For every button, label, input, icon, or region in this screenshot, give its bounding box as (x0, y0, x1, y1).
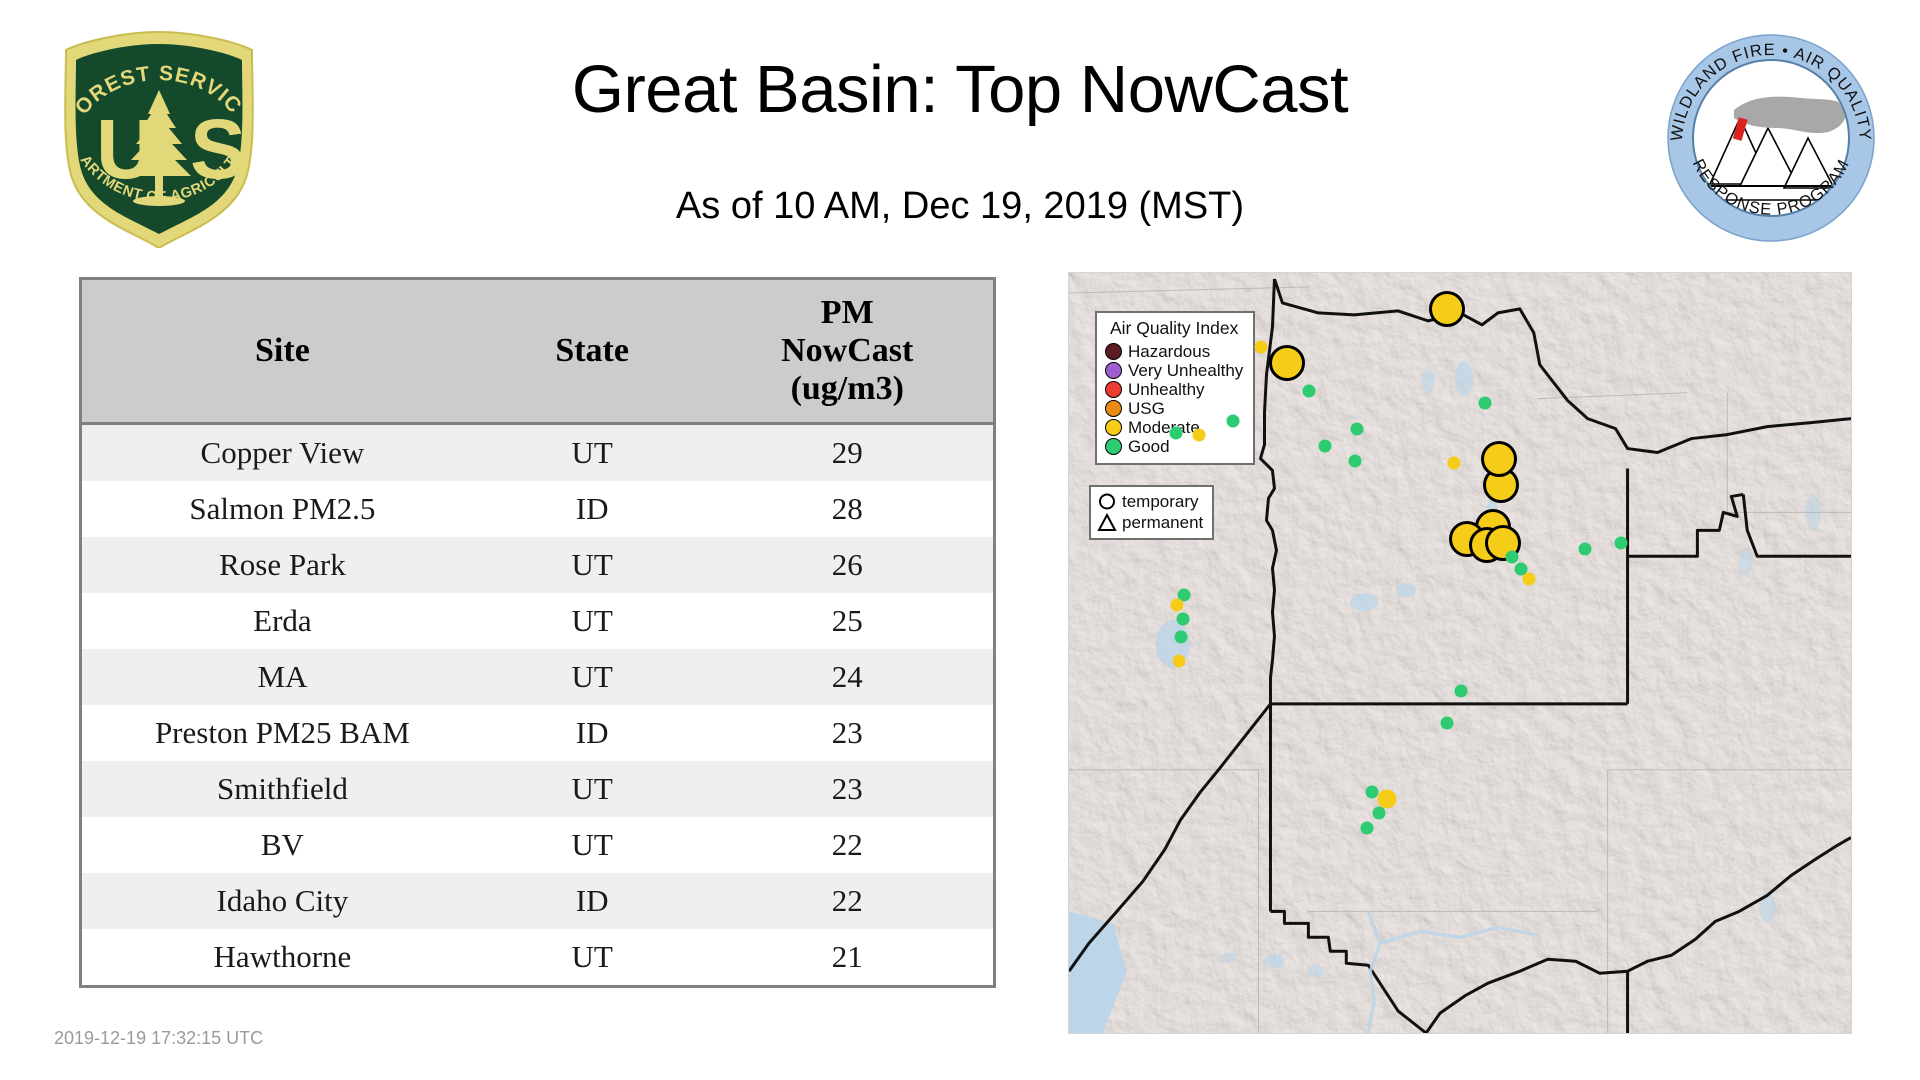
table-header-row: Site State PM NowCast (ug/m3) (82, 280, 993, 424)
monitor-marker[interactable] (1349, 455, 1362, 468)
monitor-marker[interactable] (1448, 457, 1461, 470)
cell-site: MA (82, 649, 483, 705)
column-header-pm-line1: PM (705, 294, 989, 332)
cell-state: UT (483, 424, 702, 482)
page-title: Great Basin: Top NowCast (0, 56, 1920, 123)
page-subtitle: As of 10 AM, Dec 19, 2019 (MST) (0, 185, 1920, 228)
monitor-marker[interactable] (1481, 441, 1517, 477)
cell-state: UT (483, 649, 702, 705)
table-row: ErdaUT25 (82, 593, 993, 649)
monitor-marker[interactable] (1361, 822, 1374, 835)
cell-site: Preston PM25 BAM (82, 705, 483, 761)
monitor-marker[interactable] (1429, 291, 1465, 327)
monitor-marker[interactable] (1615, 537, 1628, 550)
air-quality-map[interactable]: Air Quality Index HazardousVery Unhealth… (1068, 272, 1852, 1034)
monitor-marker-layer (1069, 273, 1851, 1033)
table-row: Copper ViewUT29 (82, 424, 993, 482)
monitor-marker[interactable] (1319, 440, 1332, 453)
monitor-marker[interactable] (1193, 429, 1206, 442)
table-row: MAUT24 (82, 649, 993, 705)
cell-pm-nowcast: 22 (701, 873, 993, 929)
cell-state: UT (483, 537, 702, 593)
cell-site: Idaho City (82, 873, 483, 929)
monitor-marker[interactable] (1479, 397, 1492, 410)
table-row: SmithfieldUT23 (82, 761, 993, 817)
cell-site: Hawthorne (82, 929, 483, 985)
cell-pm-nowcast: 26 (701, 537, 993, 593)
generated-timestamp: 2019-12-19 17:32:15 UTC (54, 1028, 263, 1049)
cell-site: Rose Park (82, 537, 483, 593)
cell-state: ID (483, 481, 702, 537)
monitor-marker[interactable] (1255, 341, 1268, 354)
monitor-marker[interactable] (1506, 551, 1519, 564)
monitor-marker[interactable] (1579, 543, 1592, 556)
table-row: HawthorneUT21 (82, 929, 993, 985)
monitor-marker[interactable] (1175, 631, 1188, 644)
top-nowcast-table: Site State PM NowCast (ug/m3) Copper Vie… (79, 277, 996, 988)
monitor-marker[interactable] (1303, 385, 1316, 398)
cell-state: UT (483, 929, 702, 985)
cell-pm-nowcast: 29 (701, 424, 993, 482)
cell-state: UT (483, 761, 702, 817)
cell-pm-nowcast: 22 (701, 817, 993, 873)
monitor-marker[interactable] (1227, 415, 1240, 428)
monitor-marker[interactable] (1373, 807, 1386, 820)
table-row: Salmon PM2.5ID28 (82, 481, 993, 537)
monitor-marker[interactable] (1455, 685, 1468, 698)
cell-site: Erda (82, 593, 483, 649)
table-row: Rose ParkUT26 (82, 537, 993, 593)
monitor-marker[interactable] (1177, 613, 1190, 626)
cell-site: Copper View (82, 424, 483, 482)
monitor-marker[interactable] (1171, 599, 1184, 612)
cell-pm-nowcast: 25 (701, 593, 993, 649)
cell-state: UT (483, 593, 702, 649)
cell-pm-nowcast: 28 (701, 481, 993, 537)
monitor-marker[interactable] (1269, 345, 1305, 381)
cell-pm-nowcast: 21 (701, 929, 993, 985)
column-header-pm-line2: NowCast (705, 332, 989, 370)
cell-state: UT (483, 817, 702, 873)
cell-pm-nowcast: 23 (701, 761, 993, 817)
monitor-marker[interactable] (1351, 423, 1364, 436)
table-row: Preston PM25 BAMID23 (82, 705, 993, 761)
column-header-site: Site (82, 280, 483, 424)
wfaqrp-logo: WILDLAND FIRE • AIR QUALITY RESPONSE PRO… (1662, 32, 1880, 244)
cell-site: Salmon PM2.5 (82, 481, 483, 537)
slide-root: FOREST SERVICE U S DEPARTMENT OF AGRICUL… (0, 0, 1920, 1080)
column-header-pm-line3: (ug/m3) (705, 370, 989, 408)
column-header-pm-nowcast: PM NowCast (ug/m3) (701, 280, 993, 424)
cell-state: ID (483, 705, 702, 761)
cell-site: BV (82, 817, 483, 873)
monitor-marker[interactable] (1173, 655, 1186, 668)
cell-pm-nowcast: 23 (701, 705, 993, 761)
cell-pm-nowcast: 24 (701, 649, 993, 705)
monitor-marker[interactable] (1523, 573, 1536, 586)
monitor-marker[interactable] (1366, 786, 1379, 799)
table-row: BVUT22 (82, 817, 993, 873)
table-row: Idaho CityID22 (82, 873, 993, 929)
monitor-marker[interactable] (1441, 717, 1454, 730)
monitor-marker[interactable] (1170, 427, 1183, 440)
cell-site: Smithfield (82, 761, 483, 817)
column-header-state: State (483, 280, 702, 424)
cell-state: ID (483, 873, 702, 929)
